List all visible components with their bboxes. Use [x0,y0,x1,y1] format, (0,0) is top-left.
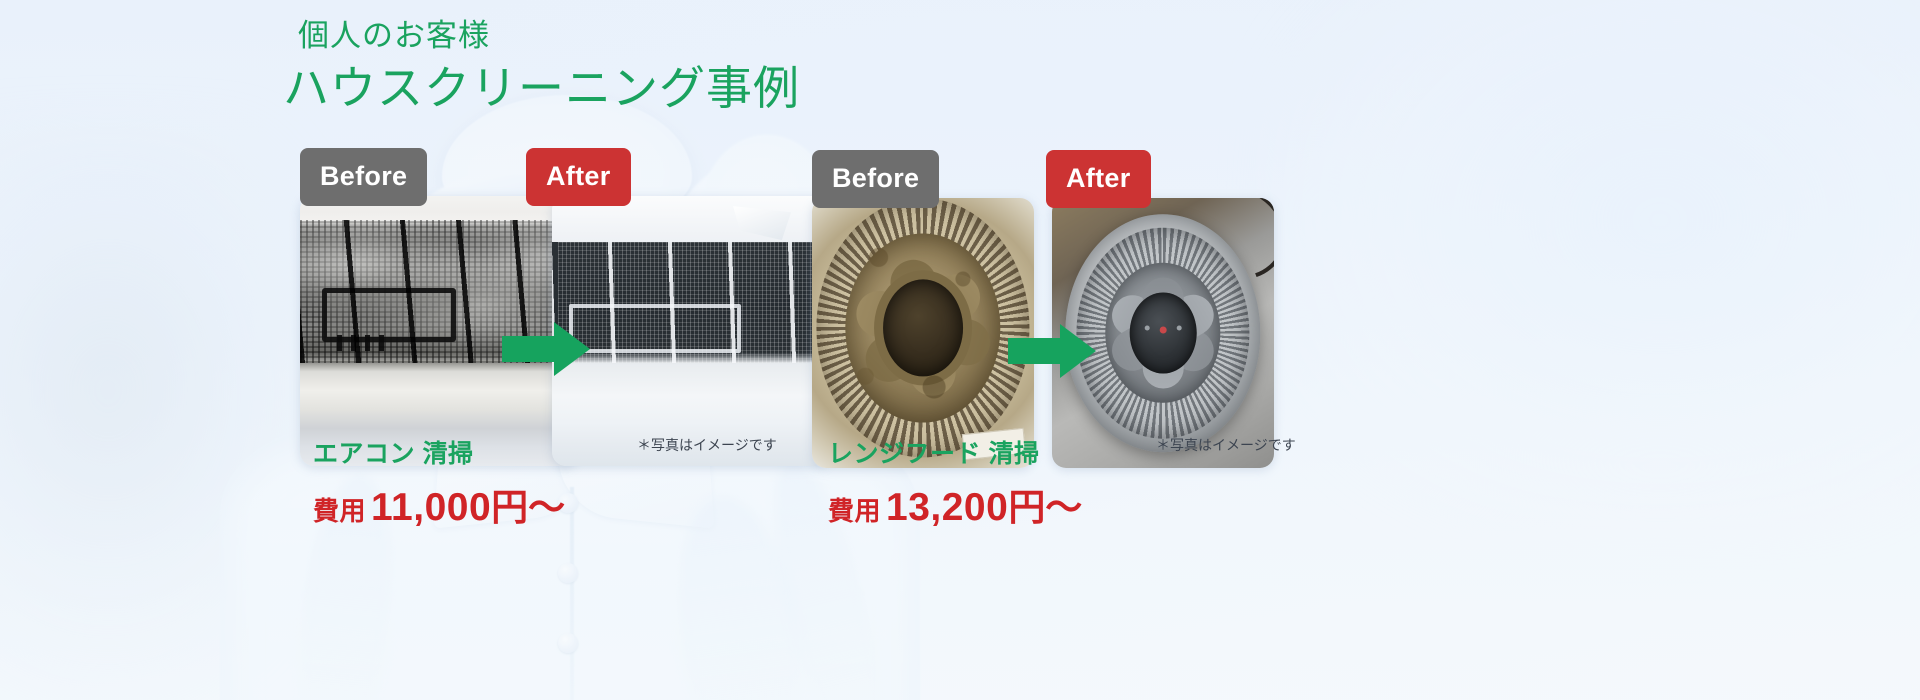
case-aircon: Before After [300,148,890,428]
caption-rangehood: レンジフード 清掃 費用 13,200 円〜 [828,438,1082,531]
badge-after-rangehood: After [1046,150,1151,208]
worker-shirt-button [558,563,578,583]
hero-banner: 個人のお客様 ハウスクリーニング事例 Before After [0,0,1920,700]
price-amount-aircon: 11,000 [371,486,491,530]
page-title: ハウスクリーニング事例 [283,60,800,118]
price-amount-rangehood: 13,200 [886,486,1008,530]
rangehood-grime-overlay [812,198,1034,468]
after-photo-aircon[interactable] [552,196,830,466]
before-photo-rangehood[interactable] [812,198,1034,468]
badge-before-aircon: Before [300,148,427,206]
price-rangehood: 費用 13,200 円〜 [828,477,1082,531]
price-prefix-rangehood: 費用 [828,491,881,528]
service-name-rangehood: レンジフード 清掃 [828,438,1082,472]
worker-shirt-button [558,633,578,653]
service-name-aircon: エアコン 清掃 [313,438,565,472]
before-after-pair: Before After [812,150,1402,430]
case-rangehood: Before After [812,150,1402,430]
image-disclaimer-aircon: ＊写真はイメージです [637,435,777,455]
arrow-right-icon [1008,322,1096,380]
badge-before-rangehood: Before [812,150,939,208]
before-after-pair: Before After [300,148,890,428]
caption-aircon: エアコン 清掃 費用 11,000 円〜 [313,438,565,531]
image-disclaimer-rangehood: ＊写真はイメージです [1156,435,1296,455]
price-unit-rangehood: 円〜 [1008,477,1082,531]
page-heading: 個人のお客様 ハウスクリーニング事例 [298,16,800,118]
rangehood-dirty-image [812,198,1034,468]
aircon-grille [322,288,455,342]
price-unit-aircon: 円〜 [491,477,565,531]
badge-after-aircon: After [526,148,631,206]
price-aircon: 費用 11,000 円〜 [313,477,565,531]
worker-shirt-placket [570,487,574,700]
price-prefix-aircon: 費用 [313,491,366,528]
aircon-clean-image [552,196,830,466]
arrow-right-icon [502,320,590,378]
heading-eyebrow: 個人のお客様 [298,16,800,56]
rangehood-clean-hub [1130,293,1197,374]
aircon-panel [569,304,741,353]
